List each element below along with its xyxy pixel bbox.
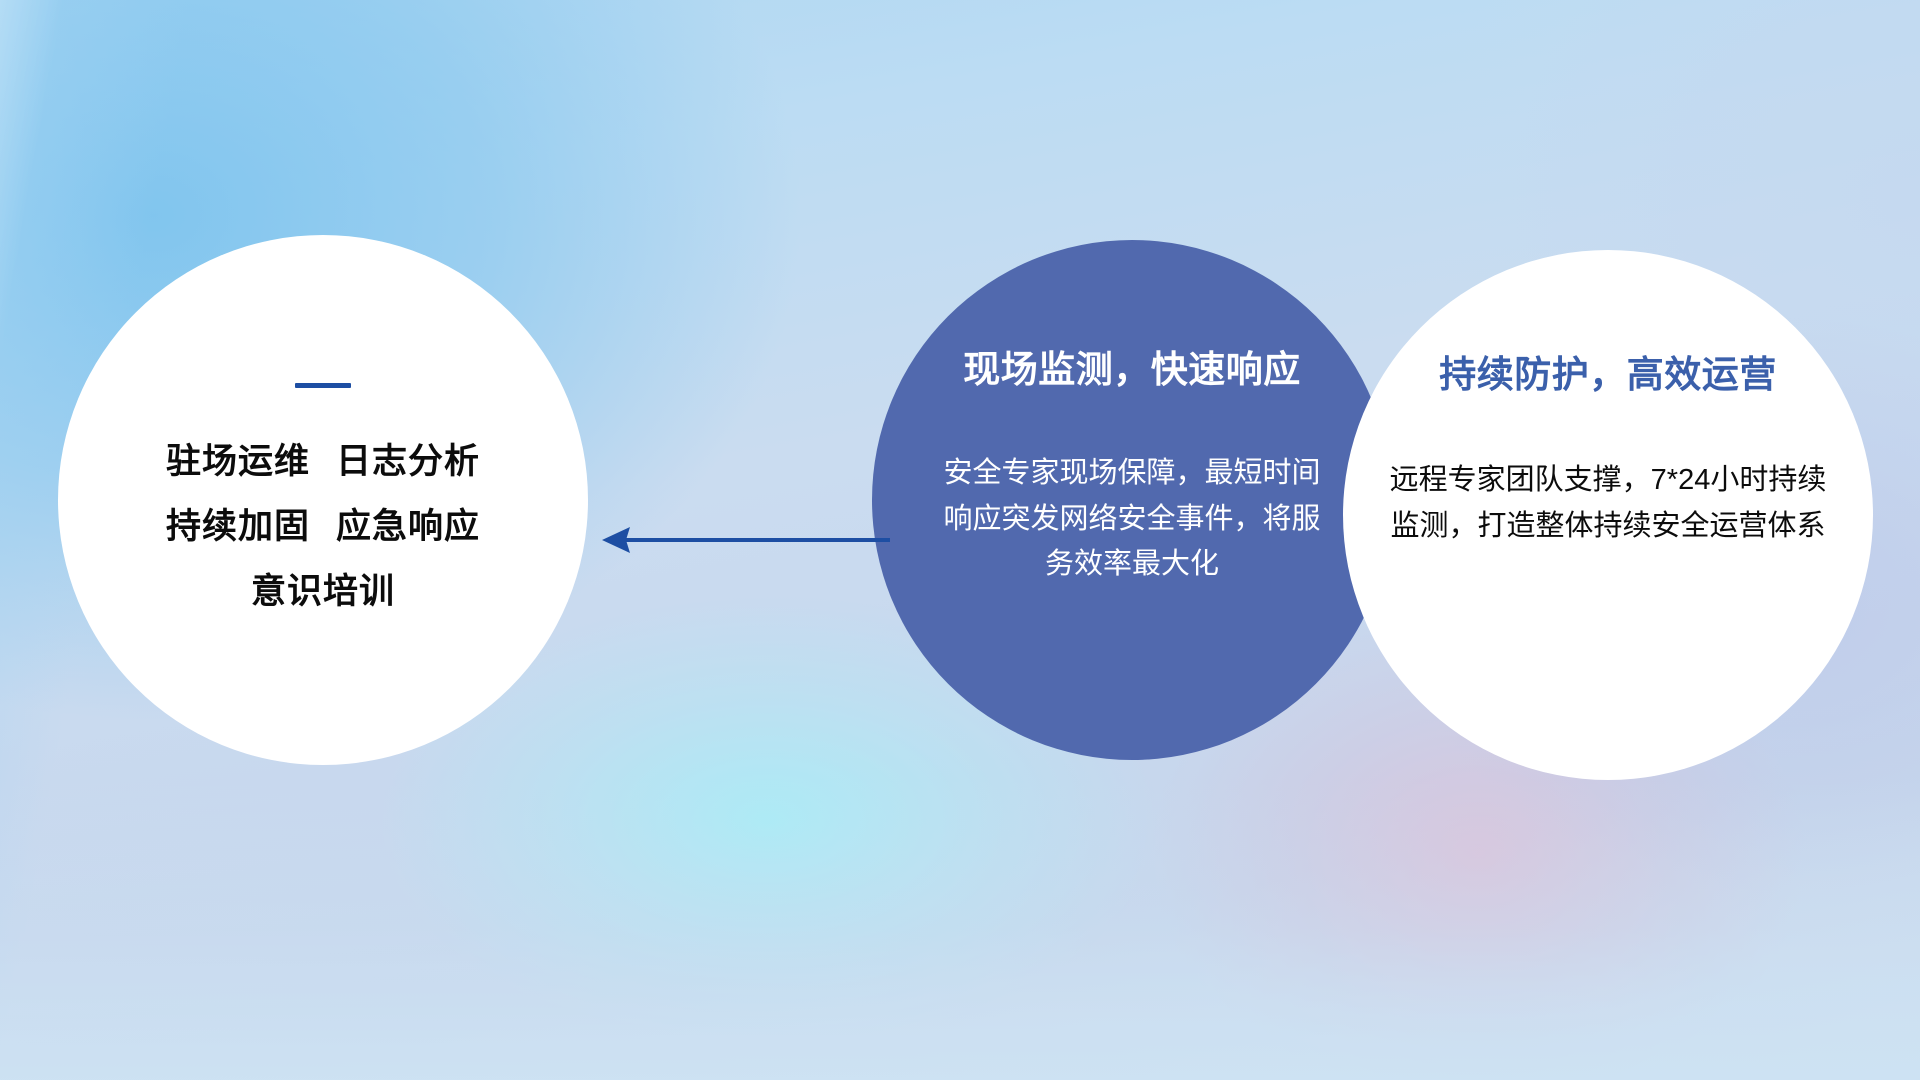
right-circle-title: 持续防护，高效运营 [1439,355,1777,396]
left-circle-keyword-list: 驻场运维日志分析 持续加固应急响应 意识培训 [166,444,480,610]
keyword-label: 日志分析 [336,442,480,481]
keyword-label: 意识培训 [251,572,395,611]
right-circle-body: 远程专家团队支撑，7*24小时持续监测，打造整体持续安全运营体系 [1388,458,1828,550]
right-circle-content: 持续防护，高效运营 远程专家团队支撑，7*24小时持续监测，打造整体持续安全运营… [1343,250,1873,780]
left-circle-keyword-row: 驻场运维日志分析 [166,444,480,481]
connector-arrow [600,510,890,570]
middle-circle-content: 现场监测，快速响应 安全专家现场保障，最短时间响应突发网络安全事件，将服务效率最… [872,240,1392,760]
keyword-label: 持续加固 [166,507,310,546]
left-circle-divider [295,383,351,388]
left-circle-content: 驻场运维日志分析 持续加固应急响应 意识培训 [58,235,588,765]
keyword-label: 应急响应 [336,507,480,546]
left-circle-keyword-row: 意识培训 [251,574,395,611]
left-circle-keyword-row: 持续加固应急响应 [166,509,480,546]
keyword-label: 驻场运维 [166,442,310,481]
slide-canvas: 现场监测，快速响应 安全专家现场保障，最短时间响应突发网络安全事件，将服务效率最… [0,0,1920,1080]
middle-circle-body: 安全专家现场保障，最短时间响应突发网络安全事件，将服务效率最大化 [932,451,1332,588]
middle-circle-title: 现场监测，快速响应 [963,350,1301,391]
arrow-left-icon [600,510,890,570]
